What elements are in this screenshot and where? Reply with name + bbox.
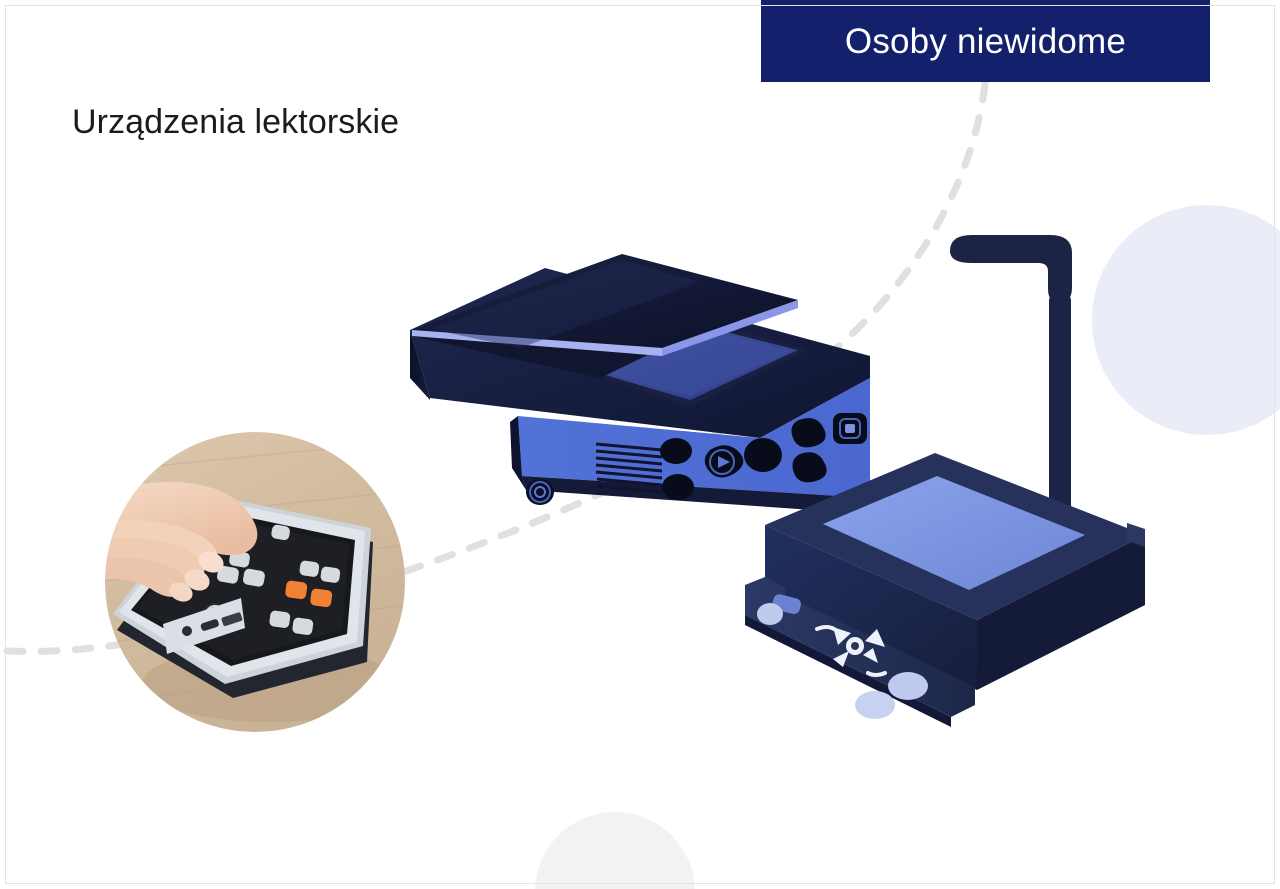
panel-key[interactable] — [855, 691, 895, 719]
round-button[interactable] — [662, 474, 694, 500]
desktop-video-magnifier-illustration — [745, 235, 1165, 805]
panel-key[interactable] — [757, 603, 783, 625]
title-badge: Osoby niewidome — [761, 0, 1210, 82]
braille-notetaker-photo — [105, 432, 405, 732]
panel-key[interactable] — [888, 672, 928, 700]
pale-gray-circle — [535, 812, 695, 889]
section-heading: Urządzenia lektorskie — [72, 103, 399, 142]
round-button[interactable] — [660, 438, 692, 464]
slide-canvas: Osoby niewidome Urządzenia lektorskie — [0, 0, 1280, 889]
power-dial[interactable] — [526, 479, 554, 505]
title-badge-label: Osoby niewidome — [845, 24, 1126, 59]
